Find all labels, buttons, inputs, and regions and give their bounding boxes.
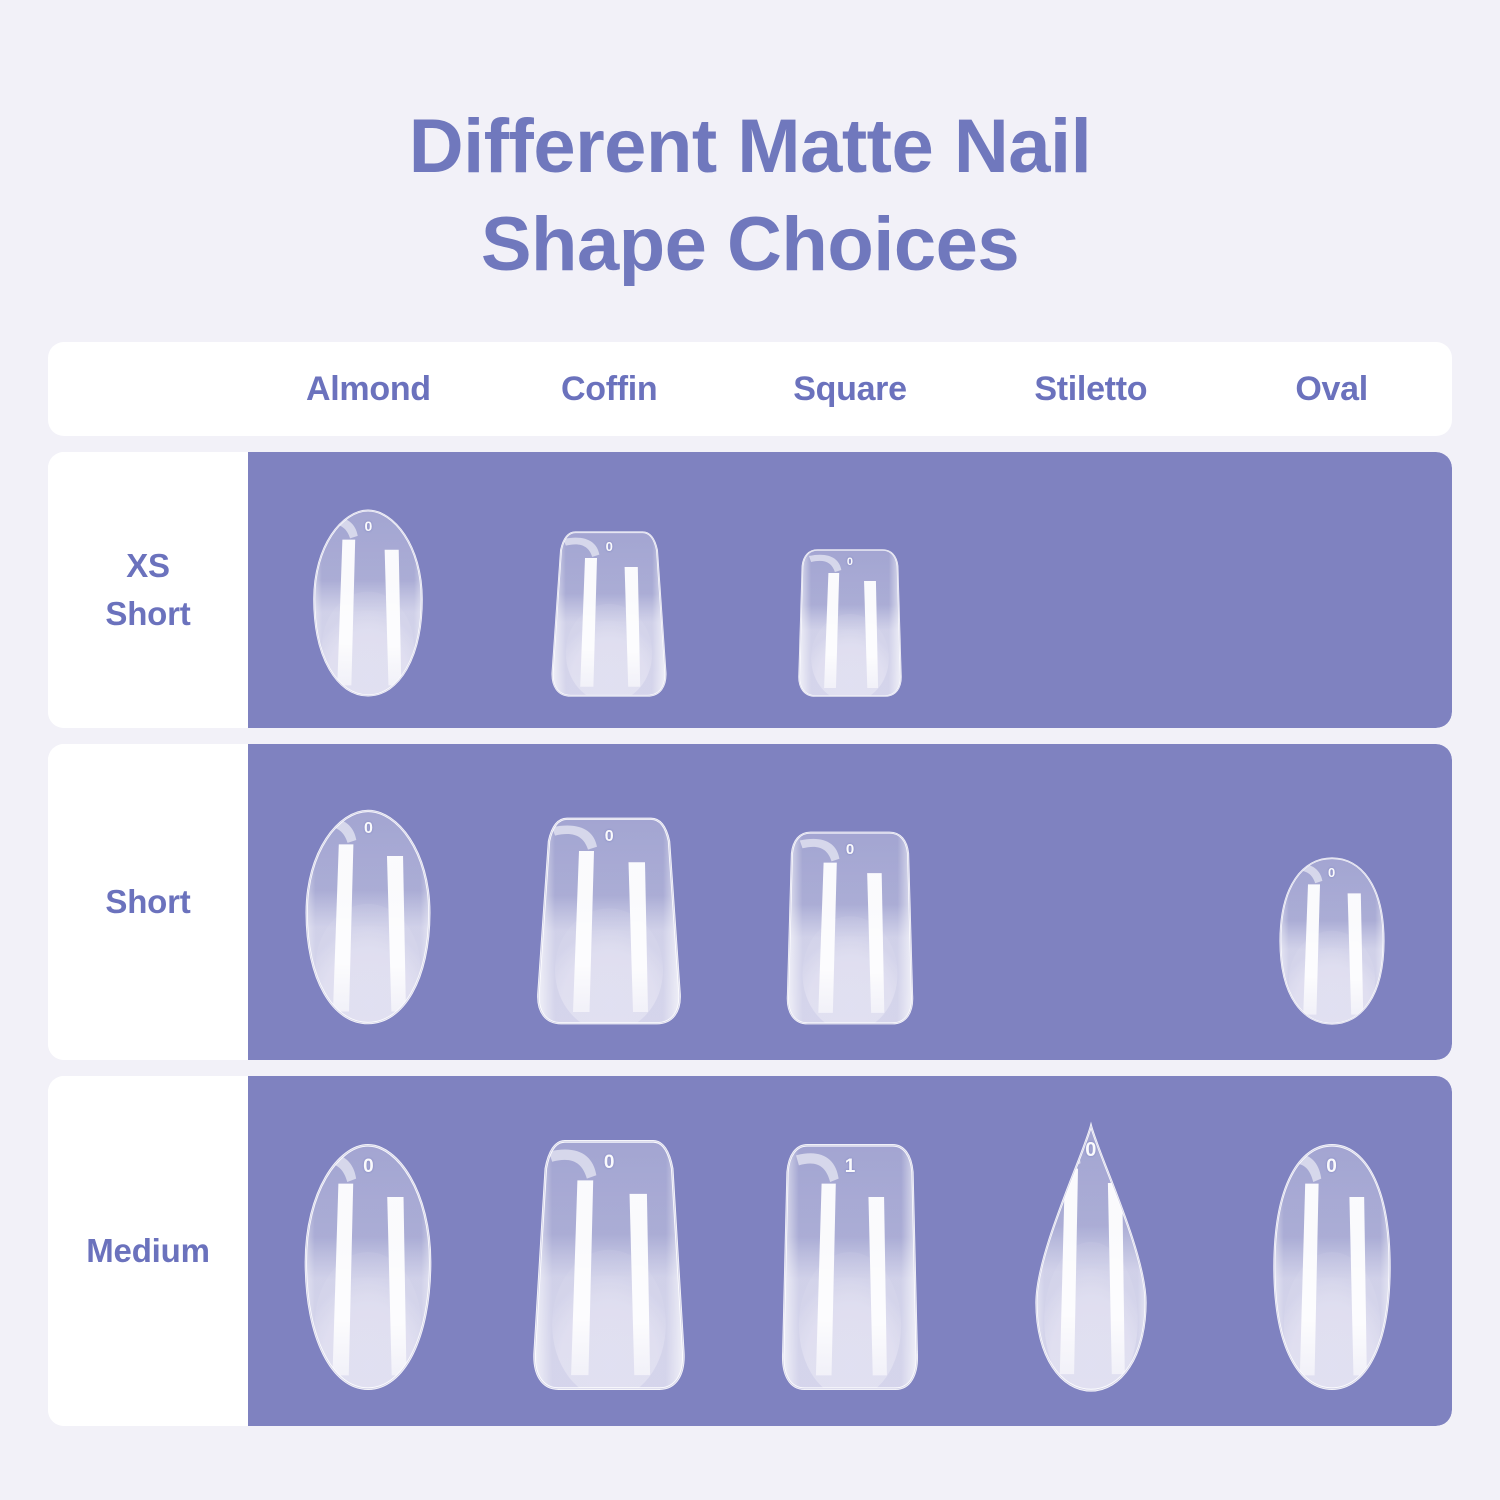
page-title-line-2: Shape Choices [0, 196, 1500, 294]
nail-tip-oval[interactable]: 0 [1265, 1142, 1399, 1392]
nail-size-mark: 0 [304, 518, 432, 534]
row-panel-short: 0 [248, 744, 1452, 1060]
column-header-oval: Oval [1211, 370, 1452, 409]
nail-tip-square[interactable]: 0 [784, 830, 916, 1026]
cell-medium-stiletto: 0 [970, 1076, 1211, 1426]
cell-short-square: 0 [730, 744, 971, 1060]
nail-tip-almond[interactable]: 0 [295, 808, 441, 1026]
cell-short-almond: 0 [248, 744, 489, 1060]
column-header-coffin: Coffin [489, 370, 730, 409]
nail-size-mark: 0 [1026, 1139, 1156, 1162]
table-header-cells: AlmondCoffinSquareStilettoOval [248, 342, 1452, 436]
nail-tip-stiletto[interactable]: 0 [1026, 1124, 1156, 1392]
column-header-square: Square [730, 370, 971, 409]
nail-size-mark: 0 [1272, 865, 1392, 880]
nail-tip-almond[interactable]: 0 [294, 1142, 442, 1392]
nail-size-mark: 1 [779, 1156, 921, 1178]
nail-size-mark: 0 [1265, 1156, 1399, 1178]
table-header-row: AlmondCoffinSquareStilettoOval [48, 342, 1452, 436]
row-label-medium: Medium [48, 1076, 248, 1426]
nail-tip-oval[interactable]: 0 [1272, 856, 1392, 1026]
nail-size-mark: 0 [530, 1152, 688, 1174]
nail-size-mark: 0 [534, 828, 684, 846]
nail-size-mark: 0 [294, 1156, 442, 1178]
cell-short-coffin: 0 [489, 744, 730, 1060]
cell-medium-almond: 0 [248, 1076, 489, 1426]
cell-medium-oval: 0 [1211, 1076, 1452, 1426]
table-row-medium: Medium [48, 1076, 1452, 1426]
cell-xs-short-square: 0 [730, 452, 971, 728]
page-title-line-1: Different Matte Nail [0, 98, 1500, 196]
column-header-almond: Almond [248, 370, 489, 409]
row-panel-xs-short: 0 [248, 452, 1452, 728]
nail-size-mark: 0 [295, 820, 441, 838]
row-label-xs-short: XS Short [48, 452, 248, 728]
table-row-short: Short [48, 744, 1452, 1060]
cell-medium-coffin: 0 [489, 1076, 730, 1426]
row-label-line: Short [105, 878, 190, 926]
nail-tip-square[interactable]: 0 [796, 548, 904, 698]
row-label-line: XS [126, 542, 170, 590]
nail-size-mark: 0 [796, 556, 904, 568]
cell-xs-short-coffin: 0 [489, 452, 730, 728]
row-label-line: Medium [86, 1227, 209, 1275]
column-header-stiletto: Stiletto [970, 370, 1211, 409]
nail-tip-coffin[interactable]: 0 [530, 1138, 688, 1392]
table-row-xs-short: XS Short [48, 452, 1452, 728]
cell-short-stiletto [970, 744, 1211, 1060]
nail-tip-square[interactable]: 1 [779, 1142, 921, 1392]
row-label-line: Short [105, 590, 190, 638]
nail-tip-coffin[interactable]: 0 [549, 530, 669, 698]
page-title: Different Matte Nail Shape Choices [0, 98, 1500, 294]
nail-shape-chart-page: Different Matte Nail Shape Choices Almon… [0, 0, 1500, 1500]
cell-short-oval: 0 [1211, 744, 1452, 1060]
cell-xs-short-almond: 0 [248, 452, 489, 728]
nail-shape-table: AlmondCoffinSquareStilettoOval XS Short [48, 342, 1452, 1442]
nail-size-mark: 0 [784, 841, 916, 858]
cell-medium-square: 1 [730, 1076, 971, 1426]
nail-size-mark: 0 [549, 539, 669, 554]
row-panel-medium: 0 [248, 1076, 1452, 1426]
row-label-short: Short [48, 744, 248, 1060]
nail-tip-coffin[interactable]: 0 [534, 816, 684, 1026]
nail-tip-almond[interactable]: 0 [304, 508, 432, 698]
cell-xs-short-stiletto [970, 452, 1211, 728]
cell-xs-short-oval [1211, 452, 1452, 728]
